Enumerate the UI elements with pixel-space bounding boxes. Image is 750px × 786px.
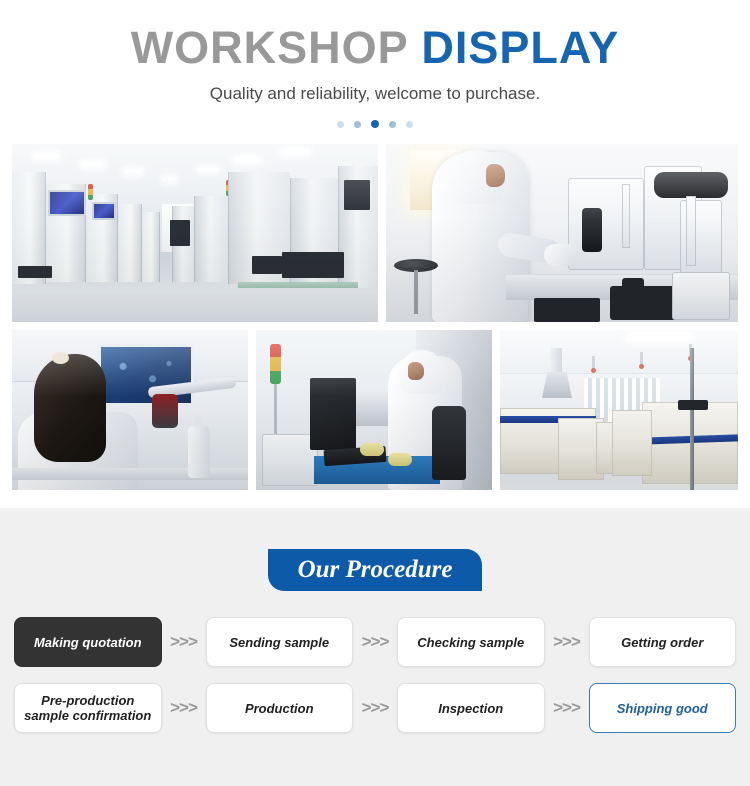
procedure-banner-title: Our Procedure bbox=[268, 549, 483, 591]
procedure-arrow-icon: >>> bbox=[545, 698, 589, 718]
procedure-banner-wrap: Our Procedure bbox=[0, 508, 750, 591]
page-title: WORKSHOP DISPLAY bbox=[0, 22, 750, 74]
page-title-accent: DISPLAY bbox=[421, 22, 619, 73]
procedure-step-sending-sample[interactable]: Sending sample bbox=[206, 617, 354, 667]
gallery-row-top bbox=[12, 144, 738, 322]
carousel-dot-5[interactable] bbox=[406, 121, 413, 128]
procedure-arrow-icon: >>> bbox=[162, 632, 206, 652]
procedure-steps: Making quotation >>> Sending sample >>> … bbox=[0, 591, 750, 733]
page-subtitle: Quality and reliability, welcome to purc… bbox=[0, 83, 750, 105]
procedure-step-checking-sample[interactable]: Checking sample bbox=[397, 617, 545, 667]
procedure-step-production[interactable]: Production bbox=[206, 683, 354, 733]
carousel-dot-1[interactable] bbox=[337, 121, 344, 128]
workshop-photo-technician-machine[interactable] bbox=[386, 144, 738, 322]
page-title-primary: WORKSHOP bbox=[131, 22, 408, 73]
carousel-dot-3-active[interactable] bbox=[371, 120, 379, 128]
procedure-step-inspection[interactable]: Inspection bbox=[397, 683, 545, 733]
workshop-photo-cleanroom-corridor[interactable] bbox=[12, 144, 378, 322]
procedure-step-getting-order[interactable]: Getting order bbox=[589, 617, 737, 667]
procedure-arrow-icon: >>> bbox=[545, 632, 589, 652]
carousel-dot-4[interactable] bbox=[389, 121, 396, 128]
carousel-dots[interactable] bbox=[0, 117, 750, 131]
procedure-row-2: Pre-production sample confirmation >>> P… bbox=[14, 683, 736, 733]
workshop-photo-microscope-inspection[interactable] bbox=[12, 330, 248, 490]
procedure-row-1: Making quotation >>> Sending sample >>> … bbox=[14, 617, 736, 667]
procedure-step-making-quotation[interactable]: Making quotation bbox=[14, 617, 162, 667]
procedure-step-pre-production-sample-confirmation[interactable]: Pre-production sample confirmation bbox=[14, 683, 162, 733]
gallery-row-bottom bbox=[12, 330, 738, 490]
workshop-photo-production-line[interactable] bbox=[500, 330, 738, 490]
hero-section: WORKSHOP DISPLAY Quality and reliability… bbox=[0, 0, 750, 131]
procedure-section: Our Procedure Making quotation >>> Sendi… bbox=[0, 508, 750, 786]
workshop-photo-gallery bbox=[0, 131, 750, 490]
procedure-arrow-icon: >>> bbox=[353, 632, 397, 652]
procedure-arrow-icon: >>> bbox=[162, 698, 206, 718]
procedure-step-shipping-good[interactable]: Shipping good bbox=[589, 683, 737, 733]
procedure-arrow-icon: >>> bbox=[353, 698, 397, 718]
carousel-dot-2[interactable] bbox=[354, 121, 361, 128]
workshop-photo-operator-keyboard[interactable] bbox=[256, 330, 492, 490]
